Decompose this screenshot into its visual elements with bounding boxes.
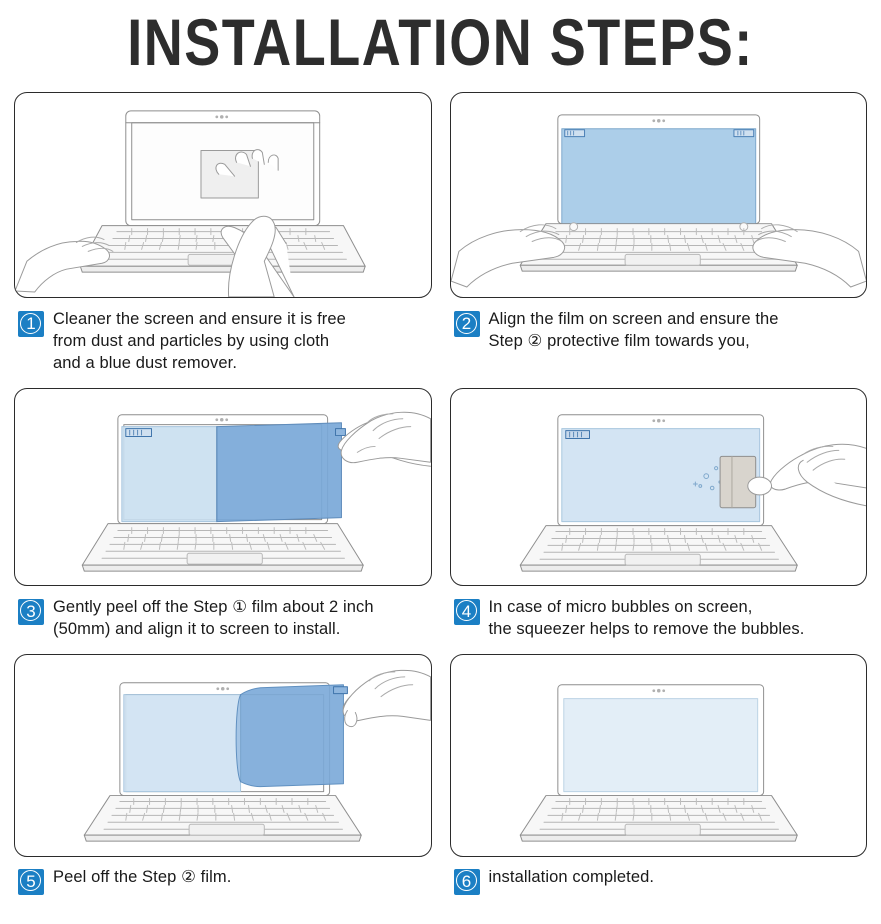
step-number-2: 2 xyxy=(454,311,480,337)
step-number-badge-4: 4 xyxy=(454,599,480,625)
step-number-badge-2: 2 xyxy=(454,311,480,337)
step-caption-4: 4 In case of micro bubbles on screen, th… xyxy=(450,586,868,654)
step-card-1: 1 Cleaner the screen and ensure it is fr… xyxy=(14,92,432,388)
step-illustration-6 xyxy=(450,654,868,857)
step-caption-1: 1 Cleaner the screen and ensure it is fr… xyxy=(14,298,432,388)
step-number-badge-6: 6 xyxy=(454,869,480,895)
step-text-6: installation completed. xyxy=(489,867,655,889)
step-card-5: 5 Peel off the Step ② film. xyxy=(14,654,432,901)
step-illustration-2 xyxy=(450,92,868,298)
steps-grid: 1 Cleaner the screen and ensure it is fr… xyxy=(0,92,881,901)
step-number-6: 6 xyxy=(454,869,480,895)
step-text-5: Peel off the Step ② film. xyxy=(53,867,231,889)
step-card-4: 4 In case of micro bubbles on screen, th… xyxy=(450,388,868,654)
step-number-1: 1 xyxy=(18,311,44,337)
page-title: INSTALLATION STEPS: xyxy=(127,5,753,81)
step-text-1: Cleaner the screen and ensure it is free… xyxy=(53,309,346,375)
step-illustration-1 xyxy=(14,92,432,298)
step-card-2: 2 Align the film on screen and ensure th… xyxy=(450,92,868,388)
step-illustration-4 xyxy=(450,388,868,586)
step-card-3: 3 Gently peel off the Step ① film about … xyxy=(14,388,432,654)
step-number-4: 4 xyxy=(454,599,480,625)
step-number-badge-5: 5 xyxy=(18,869,44,895)
step-caption-2: 2 Align the film on screen and ensure th… xyxy=(450,298,868,366)
step-card-6: 6 installation completed. xyxy=(450,654,868,901)
step-caption-6: 6 installation completed. xyxy=(450,857,868,901)
step-number-badge-1: 1 xyxy=(18,311,44,337)
step-number-3: 3 xyxy=(18,599,44,625)
step-caption-3: 3 Gently peel off the Step ① film about … xyxy=(14,586,432,654)
step-text-4: In case of micro bubbles on screen, the … xyxy=(489,597,805,641)
step-number-badge-3: 3 xyxy=(18,599,44,625)
step-caption-5: 5 Peel off the Step ② film. xyxy=(14,857,432,901)
step-text-3: Gently peel off the Step ① film about 2 … xyxy=(53,597,374,641)
step-number-5: 5 xyxy=(18,869,44,895)
step-illustration-5 xyxy=(14,654,432,857)
step-text-2: Align the film on screen and ensure the … xyxy=(489,309,779,353)
step-illustration-3 xyxy=(14,388,432,586)
page-header: INSTALLATION STEPS: xyxy=(0,0,881,92)
